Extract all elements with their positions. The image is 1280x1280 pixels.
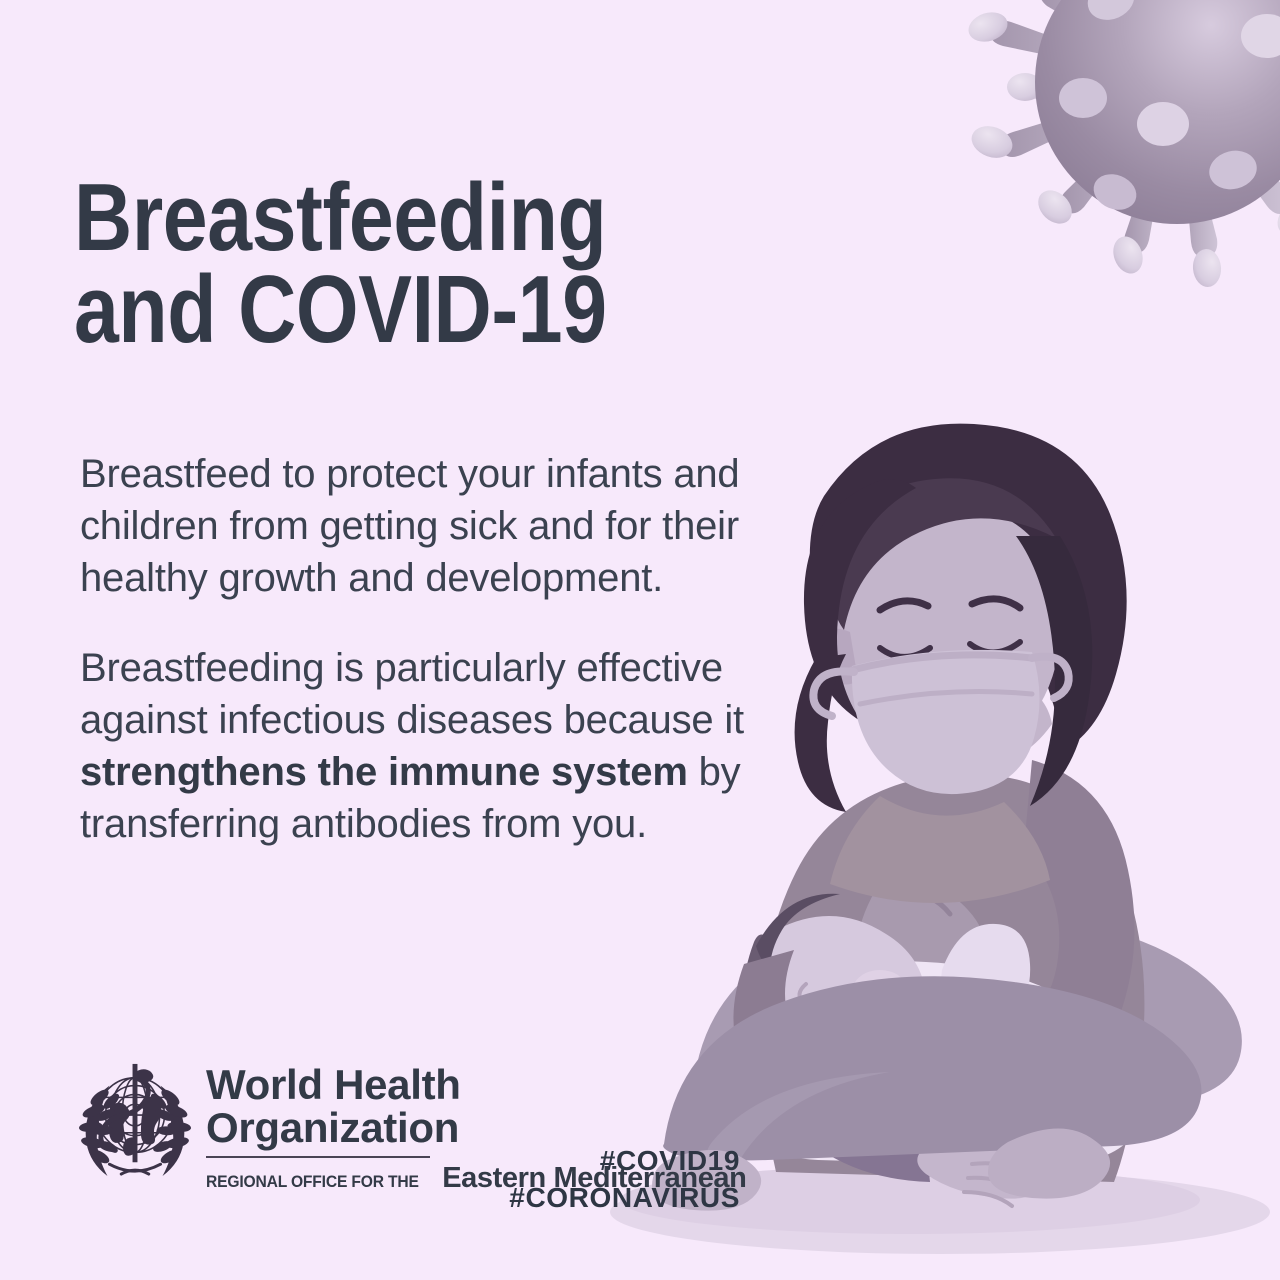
who-line-world-health: World Health — [206, 1064, 746, 1107]
baby-cheek — [852, 970, 908, 1014]
title-line-2: and COVID-19 — [74, 264, 679, 356]
mask-pleat — [860, 692, 1032, 704]
baby-fist — [941, 924, 1030, 1031]
poster-canvas: Breastfeeding and COVID-19 Breastfeed to… — [0, 0, 1280, 1280]
hair-front — [830, 478, 1056, 630]
arm-far — [1014, 760, 1134, 1092]
baby-hair-tuft — [756, 894, 840, 970]
sleeve-cuff — [818, 1100, 930, 1182]
title-line-1: Breastfeeding — [74, 172, 679, 264]
breast-line — [886, 891, 950, 914]
hand-lower — [917, 1136, 1045, 1206]
leg-back — [692, 913, 1242, 1121]
who-line-organization: Organization — [206, 1107, 746, 1150]
body-paragraph-1: Breastfeed to protect your infants and c… — [80, 448, 820, 604]
chest-skin — [866, 672, 1052, 768]
virus-spikes — [965, 0, 1280, 288]
page-title: Breastfeeding and COVID-19 — [74, 172, 679, 356]
baby-hair — [743, 934, 828, 1086]
mask-top-edge — [852, 655, 1032, 670]
who-region-line: REGIONAL OFFICE FOR THE Eastern Mediterr… — [206, 1162, 746, 1195]
paragraph-2-text-before: Breastfeeding is particularly effective … — [80, 646, 744, 742]
eye-right-closed — [970, 642, 1020, 653]
baby-arm — [908, 1029, 1028, 1081]
who-region-prefix: REGIONAL OFFICE FOR THE — [206, 1172, 419, 1192]
who-emblem-icon — [76, 1058, 194, 1180]
hair-side — [804, 479, 916, 722]
who-region-name: Eastern Mediterranean — [442, 1162, 746, 1195]
mask-loop-right — [1032, 657, 1069, 698]
hair-back — [810, 424, 1127, 750]
face-mask — [852, 650, 1040, 794]
eyebrow-right — [972, 599, 1020, 608]
virus-surface-nubs — [1059, 0, 1280, 216]
hair-right — [1016, 536, 1092, 806]
eye-left-closed — [880, 648, 930, 657]
hand-upper — [895, 1038, 1015, 1106]
face — [829, 502, 1061, 758]
virus-core — [1035, 0, 1280, 224]
baby-nose — [799, 984, 818, 1008]
who-logo-lockup: World Health Organization REGIONAL OFFIC… — [76, 1058, 746, 1195]
breast — [858, 883, 986, 1006]
coronavirus-illustration — [915, 0, 1280, 370]
mother-head — [795, 424, 1127, 812]
baby-head — [759, 916, 926, 1079]
baby-swaddle — [729, 961, 1146, 1166]
eyebrow-left — [880, 601, 928, 610]
neck-shoulder — [830, 796, 1050, 903]
ear — [816, 629, 858, 685]
paragraph-2-emphasis: strengthens the immune system — [80, 750, 688, 794]
foot-right — [988, 1128, 1110, 1198]
who-divider-rule — [206, 1156, 430, 1158]
body-paragraph-2: Breastfeeding is particularly effective … — [80, 642, 820, 850]
arm-near — [733, 950, 872, 1140]
who-wordmark: World Health Organization REGIONAL OFFIC… — [206, 1058, 746, 1195]
